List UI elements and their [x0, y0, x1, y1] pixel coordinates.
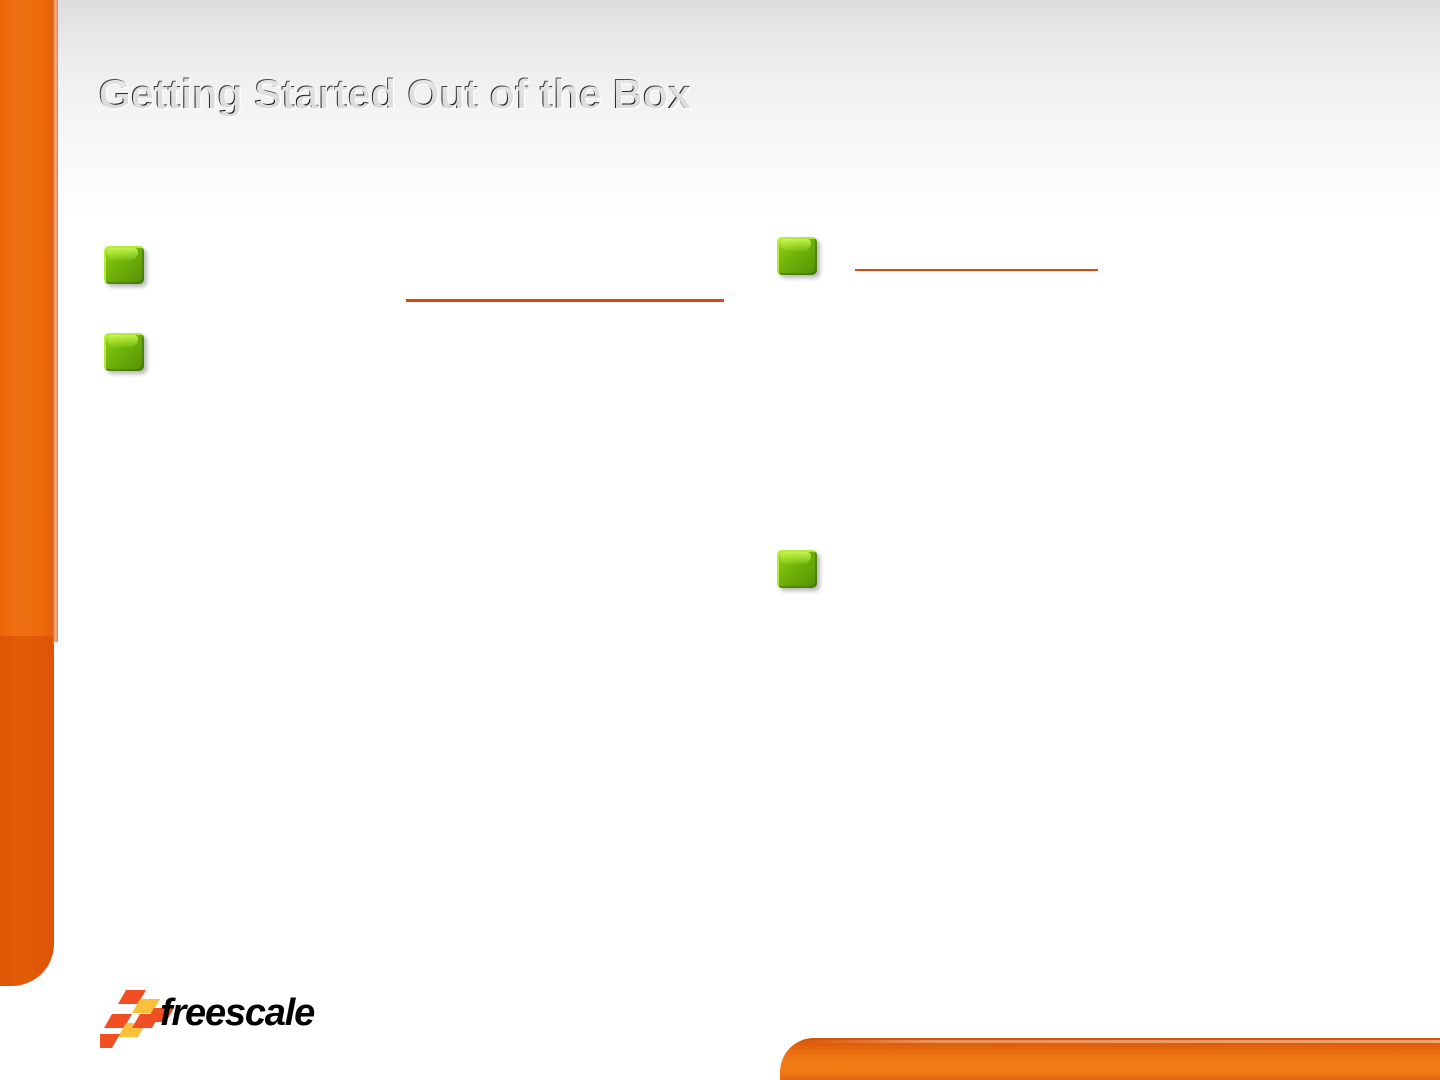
bottom-accent-bar: [780, 1038, 1440, 1080]
freescale-logo: freescale: [100, 980, 350, 1050]
left-accent-bar-seam: [52, 0, 59, 645]
bullet-marker-1: [104, 246, 144, 284]
bullet-marker-4: [777, 550, 817, 588]
bottom-accent-bar-highlight: [800, 1040, 1440, 1043]
hyperlink-underline-2[interactable]: [855, 269, 1098, 271]
hyperlink-underline-1[interactable]: [406, 299, 724, 302]
bullet-marker-3: [777, 237, 817, 275]
freescale-wordmark: freescale: [160, 992, 314, 1035]
page-title: Getting Started Out of the Box: [98, 70, 690, 118]
slide-canvas: Getting Started Out of the Box Getting S…: [0, 0, 1440, 1080]
bullet-marker-2: [104, 333, 144, 371]
left-accent-bar-lower: [0, 636, 54, 986]
left-accent-bar-upper: [0, 0, 58, 642]
